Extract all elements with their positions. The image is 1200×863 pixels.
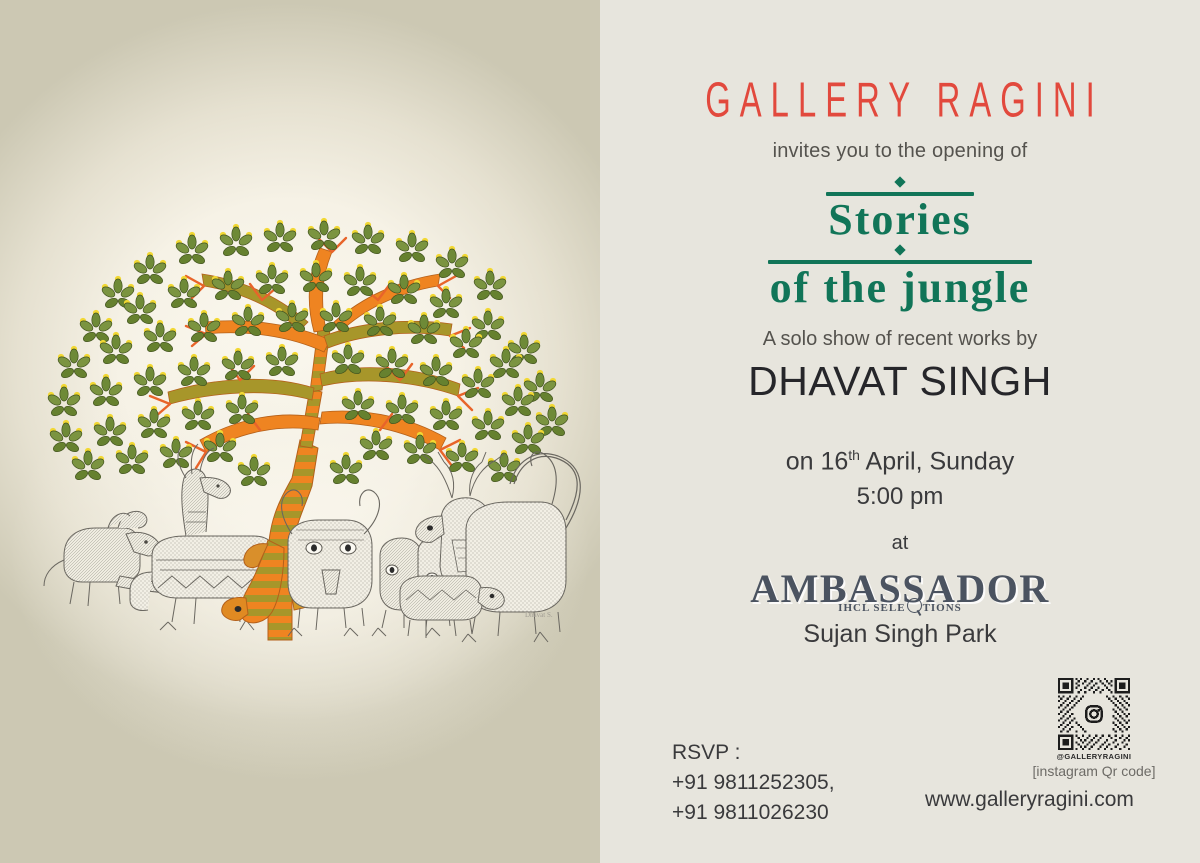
event-date: on 16th April, Sunday — [600, 447, 1200, 476]
website-link[interactable]: www.galleryragini.com — [925, 788, 1134, 812]
show-title-line-1: Stories — [600, 188, 1200, 245]
rsvp-label: RSVP : — [672, 738, 835, 768]
artwork-signature: Dhavat S. — [525, 611, 553, 619]
rsvp-phone-2[interactable]: +91 9811026230 — [672, 798, 835, 828]
at-label: at — [600, 532, 1200, 555]
artist-name: DHAVAT SINGH — [600, 358, 1200, 405]
venue-sub-prefix: IHCL SELE — [838, 602, 905, 614]
q-circle-icon — [907, 598, 922, 613]
venue-address: Sujan Singh Park — [600, 620, 1200, 649]
info-panel: GALLERY RAGINI invites you to the openin… — [600, 0, 1200, 863]
event-time: 5:00 pm — [600, 483, 1200, 511]
event-date-prefix: on 16 — [786, 447, 849, 475]
qr-caption: [instagram Qr code] — [1018, 763, 1170, 779]
gond-tree-painting: Dhavat S. — [0, 0, 600, 863]
venue-sub-suffix: TIONS — [923, 602, 962, 614]
event-date-ordinal: th — [848, 447, 860, 463]
gallery-brand-title: GALLERY RAGINI — [654, 74, 1146, 129]
show-title-line-2: of the jungle — [600, 256, 1200, 313]
solo-show-line: A solo show of recent works by — [600, 328, 1200, 351]
instagram-handle: @GALLERYRAGINI — [1055, 752, 1133, 761]
rsvp-block: RSVP : +91 9811252305, +91 9811026230 — [672, 738, 835, 828]
show-title-text-1: Stories — [828, 195, 972, 244]
show-title-text-2: of the jungle — [770, 263, 1031, 312]
invitation-card: Dhavat S. GALLERY RAGINI invites you to … — [0, 0, 1200, 863]
instagram-qr-code[interactable] — [1058, 678, 1130, 750]
invites-line: invites you to the opening of — [600, 140, 1200, 163]
artwork-panel: Dhavat S. — [0, 0, 600, 863]
event-date-suffix: April, Sunday — [860, 447, 1014, 475]
rsvp-phone-1[interactable]: +91 9811252305, — [672, 768, 835, 798]
instagram-qr-block[interactable]: @GALLERYRAGINI — [1055, 678, 1133, 761]
venue-sub-brand: IHCL SELETIONS — [600, 598, 1200, 614]
